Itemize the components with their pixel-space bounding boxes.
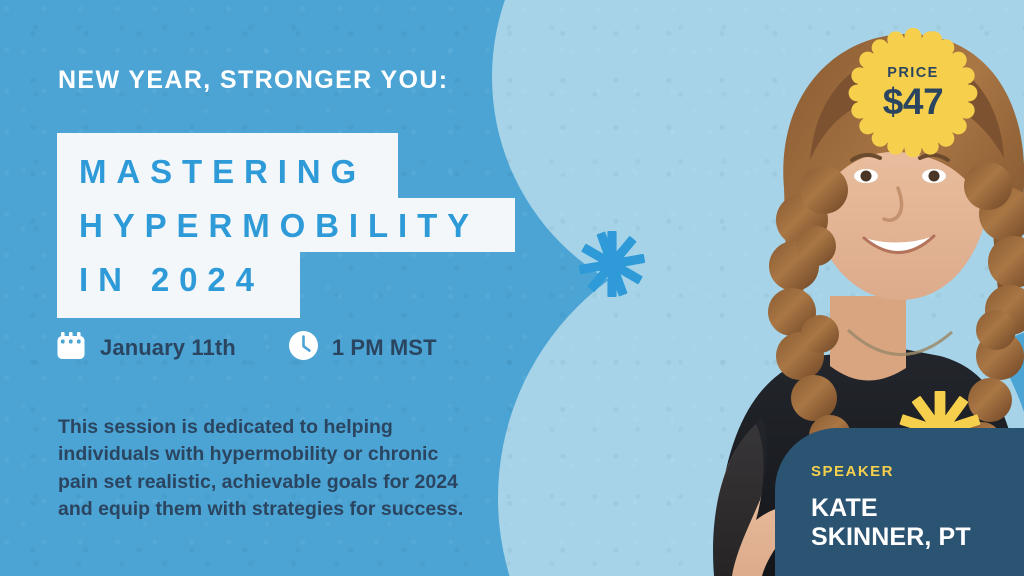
title-line-2: HYPERMOBILITY	[57, 198, 515, 252]
price-badge-amount: $47	[883, 83, 944, 120]
description-line-2: individuals with hypermobility or chroni…	[58, 441, 528, 468]
title-line-1: MASTERING	[57, 133, 398, 198]
speaker-name-line-1: KATE	[811, 494, 1024, 523]
description-line-3: pain set realistic, achievable goals for…	[58, 469, 528, 496]
event-time-text: 1 PM MST	[332, 335, 437, 361]
description-line-1: This session is dedicated to helping	[58, 414, 528, 441]
eyebrow-text: NEW YEAR, STRONGER YOU:	[58, 68, 448, 93]
webinar-promo-canvas: NEW YEAR, STRONGER YOU: MASTERING HYPERM…	[0, 0, 1024, 576]
speaker-label: SPEAKER	[811, 464, 1024, 479]
title-line-3: IN 2024	[57, 252, 300, 318]
speaker-card: SPEAKER KATE SKINNER, PT	[775, 428, 1024, 576]
event-time: 1 PM MST	[288, 330, 437, 366]
session-description: This session is dedicated to helping ind…	[58, 414, 528, 523]
price-badge-label: PRICE	[887, 66, 939, 81]
speaker-name: KATE SKINNER, PT	[811, 494, 1024, 553]
event-date: January 11th	[55, 331, 236, 366]
page-title: MASTERING HYPERMOBILITY IN 2024	[57, 133, 515, 318]
calendar-icon	[55, 331, 87, 366]
description-line-4: and equip them with strategies for succe…	[58, 496, 528, 523]
event-meta-row: January 11th 1 PM MST	[55, 330, 437, 366]
content-column: NEW YEAR, STRONGER YOU: MASTERING HYPERM…	[0, 0, 560, 576]
clock-icon	[288, 330, 319, 366]
asterisk-icon-blue	[578, 230, 646, 303]
event-date-text: January 11th	[100, 335, 236, 361]
price-badge: PRICE $47	[848, 28, 978, 158]
speaker-name-line-2: SKINNER, PT	[811, 523, 1024, 552]
